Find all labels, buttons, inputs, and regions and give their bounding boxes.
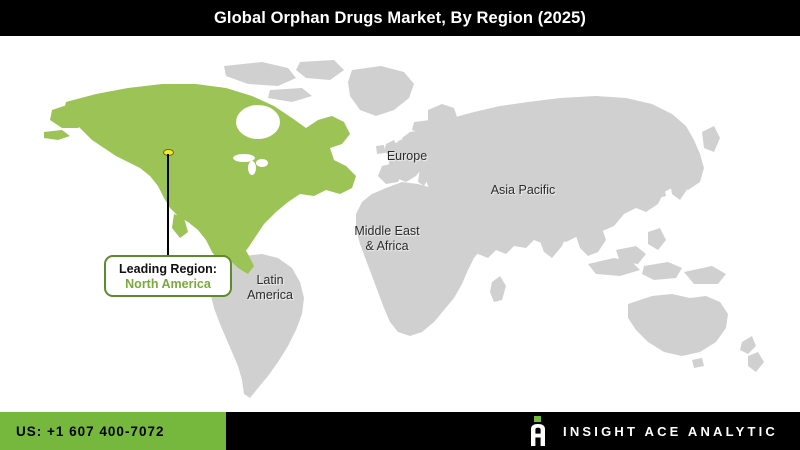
map-stage: Europe Asia Pacific Middle East & Africa… — [0, 36, 800, 412]
ireland — [376, 145, 385, 154]
lake-superior — [233, 154, 255, 162]
lake-huron — [256, 159, 268, 167]
hudson-bay — [236, 105, 280, 139]
callout-leader-line — [167, 154, 169, 255]
footer-phone-number: US: +1 607 400-7072 — [0, 424, 164, 439]
leading-region-callout: Leading Region: North America — [104, 255, 232, 297]
infographic-page: Global Orphan Drugs Market, By Region (2… — [0, 0, 800, 450]
callout-value: North America — [125, 277, 211, 291]
brand-lockup: INSIGHT ACE ANALYTIC — [527, 412, 778, 450]
logo-accent-square — [534, 416, 541, 422]
footer-bar: US: +1 607 400-7072 INSIGHT ACE ANALYTIC — [0, 412, 800, 450]
callout-label: Leading Region: — [119, 262, 217, 276]
logo-letter-a — [531, 424, 545, 446]
world-map — [0, 36, 800, 412]
brand-name-text: INSIGHT ACE ANALYTIC — [563, 424, 778, 439]
footer-phone-block[interactable]: US: +1 607 400-7072 — [0, 412, 226, 450]
page-title: Global Orphan Drugs Market, By Region (2… — [214, 9, 586, 28]
lake-michigan — [248, 161, 256, 175]
title-bar: Global Orphan Drugs Market, By Region (2… — [0, 0, 800, 36]
insight-ace-a-logo-icon — [527, 416, 549, 446]
